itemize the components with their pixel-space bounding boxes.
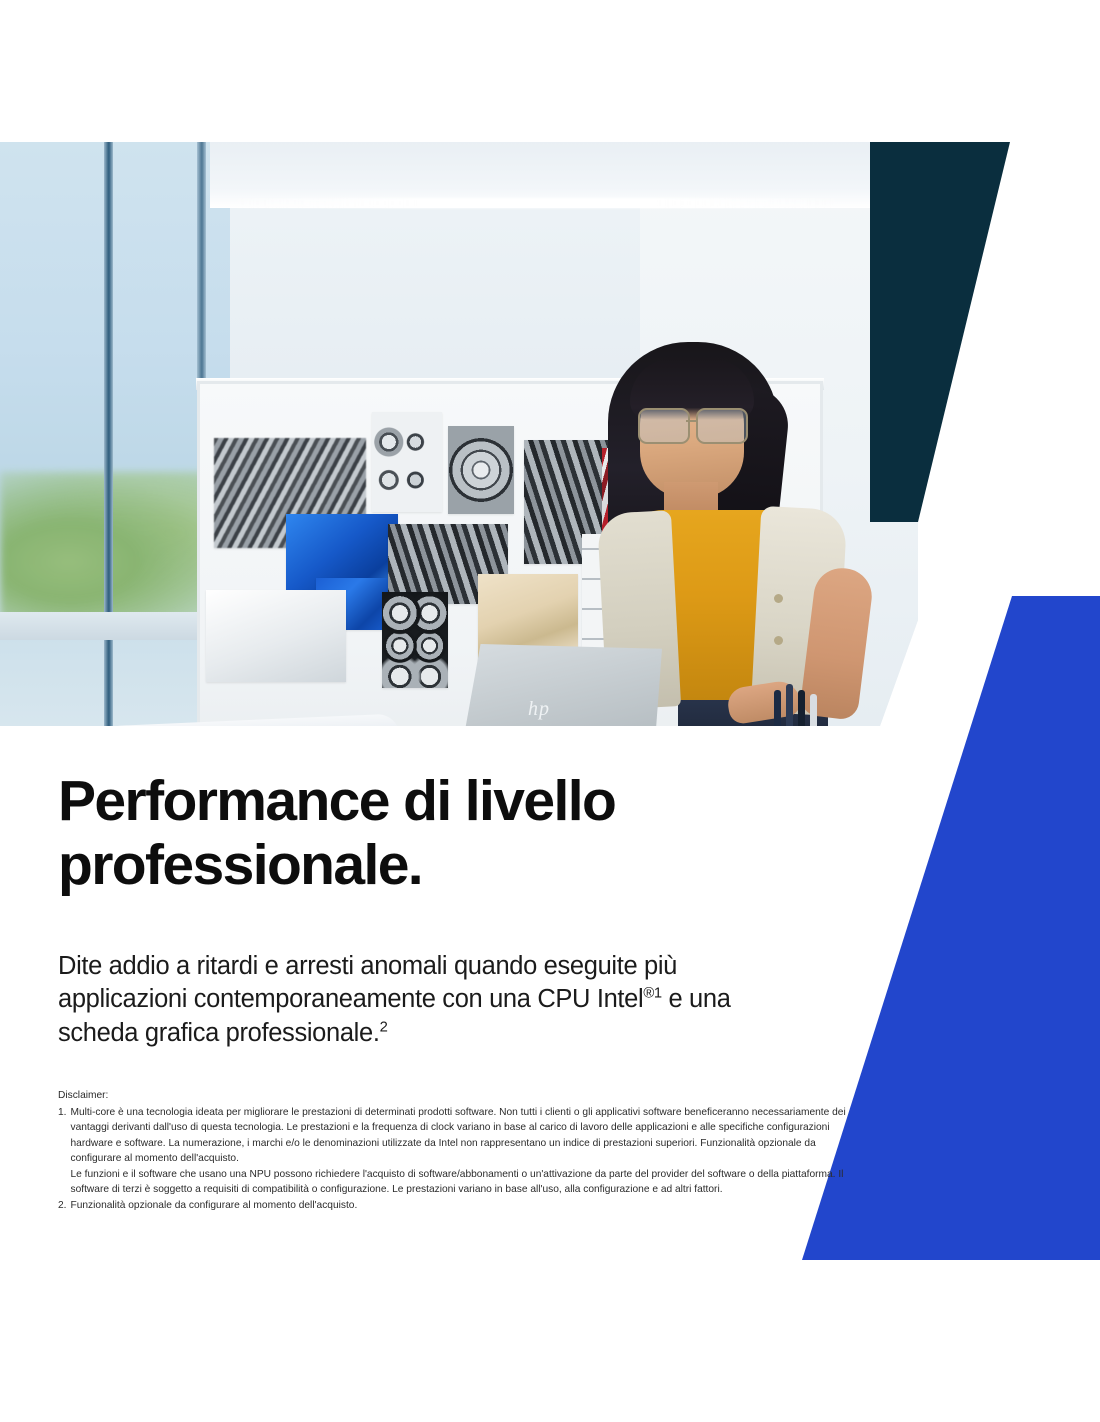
pencil — [786, 684, 793, 726]
office-scene: hp — [0, 142, 1100, 726]
glasses-bridge — [686, 420, 698, 422]
disclaimer-item-body: Funzionalità opzionale da configurare al… — [71, 1198, 849, 1214]
disclaimer-paragraph: Funzionalità opzionale da configurare al… — [71, 1198, 849, 1214]
hp-logo: hp — [528, 698, 550, 721]
lens-right — [696, 408, 748, 444]
hero-image: hp — [0, 142, 1100, 726]
page-title: Performance di livello professionale. — [58, 770, 818, 898]
vest-button — [774, 636, 783, 645]
headline-line-1: Performance di livello — [58, 769, 615, 833]
footnote-ref-2: 2 — [380, 1019, 388, 1035]
laptop-lid — [446, 644, 662, 726]
ceiling-light-strip — [236, 198, 836, 208]
hero-image-content: hp — [0, 142, 1100, 726]
disclaimer-paragraph: Multi-core è una tecnologia ideata per m… — [71, 1105, 849, 1167]
disclaimer-title: Disclaimer: — [58, 1088, 848, 1104]
vest-button — [774, 594, 783, 603]
disclaimer-list: 1. Multi-core è una tecnologia ideata pe… — [58, 1105, 848, 1214]
subheading: Dite addio a ritardi e arresti anomali q… — [58, 950, 758, 1051]
footnote-ref-1: ®1 — [643, 986, 661, 1002]
headline-line-2: professionale. — [58, 833, 422, 897]
window-foliage — [0, 472, 230, 622]
moodboard-card-wheel-closeup — [448, 426, 514, 514]
disclaimer-item-number: 1. — [58, 1105, 67, 1198]
lens-left — [638, 408, 690, 444]
disclaimer-item: 1. Multi-core è una tecnologia ideata pe… — [58, 1105, 848, 1198]
pencil — [810, 694, 817, 726]
moodboard-card-car-lineart — [206, 590, 346, 682]
moodboard-card-wheels-grid — [382, 592, 448, 688]
subheading-part-1: Dite addio a ritardi e arresti anomali q… — [58, 952, 677, 1014]
disclaimer-item: 2. Funzionalità opzionale da configurare… — [58, 1198, 848, 1214]
page-root: hp Performance di livello professionale. — [0, 0, 1100, 1422]
disclaimer-paragraph: Le funzioni e il software che usano una … — [71, 1167, 849, 1198]
pencil — [774, 690, 781, 726]
moodboard-card-parts-grid — [372, 412, 442, 512]
text-content: Performance di livello professionale. Di… — [58, 770, 818, 1051]
pencil — [798, 690, 805, 726]
eyeglasses — [634, 408, 750, 440]
disclaimer-block: Disclaimer: 1. Multi-core è una tecnolog… — [58, 1088, 848, 1213]
disclaimer-item-body: Multi-core è una tecnologia ideata per m… — [71, 1105, 849, 1198]
disclaimer-item-number: 2. — [58, 1198, 67, 1214]
